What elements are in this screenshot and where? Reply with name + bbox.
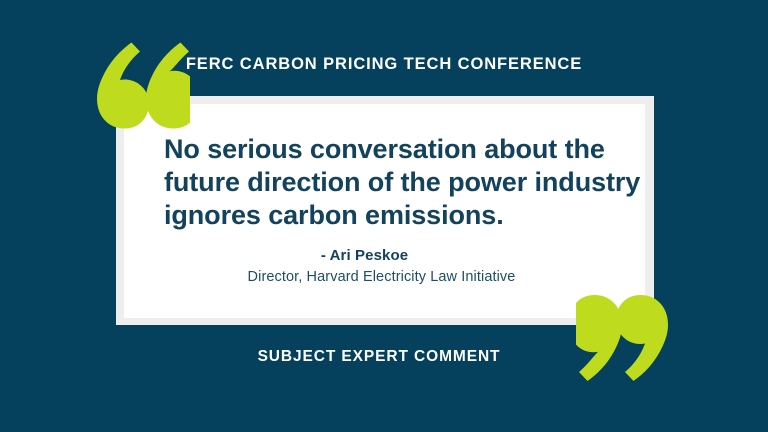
open-quote-icon (86, 40, 190, 130)
quote-line: No serious conversation about the (164, 133, 624, 166)
footer-caption: SUBJECT EXPERT COMMENT (0, 346, 768, 368)
quote-line: future direction of the power industry (164, 166, 624, 199)
attribution-name: - Ari Peskoe (124, 245, 645, 266)
quote-line: ignores carbon emissions. (164, 199, 624, 232)
attribution: - Ari Peskoe Director, Harvard Electrici… (124, 245, 645, 288)
quote-slide: FERC CARBON PRICING TECH CONFERENCE No s… (0, 0, 768, 432)
quote-text: No serious conversation about the future… (164, 133, 624, 232)
attribution-role: Director, Harvard Electricity Law Initia… (124, 266, 645, 288)
close-quote-icon (576, 295, 682, 381)
